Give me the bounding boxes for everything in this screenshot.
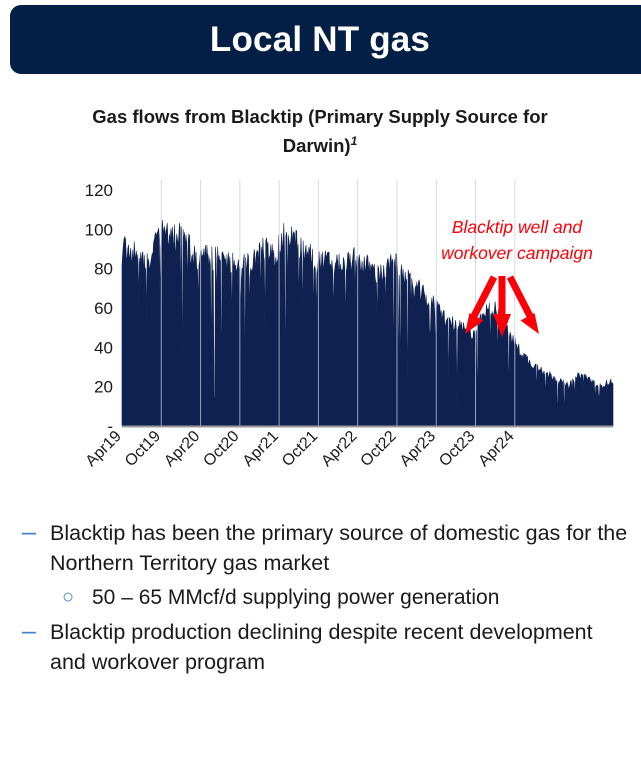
x-axis-tick-labels: Apr19Oct19Apr20Oct20Apr21Oct21Apr22Oct22… xyxy=(83,428,518,470)
annotation-line-1: Blacktip well and xyxy=(452,217,584,237)
dash-marker-icon: – xyxy=(22,518,50,547)
bullet-item-3-text: Blacktip production declining despite re… xyxy=(50,617,641,677)
y-tick-label: 80 xyxy=(94,260,113,279)
y-tick-label: 20 xyxy=(94,378,113,397)
y-tick-label: 100 xyxy=(85,220,113,239)
circle-marker-icon: ○ xyxy=(62,582,92,613)
bullet-item-1-text: Blacktip has been the primary source of … xyxy=(50,518,641,578)
x-tick-label: Apr20 xyxy=(161,428,203,470)
bullet-item-2: ○ 50 – 65 MMcf/d supplying power generat… xyxy=(0,582,641,613)
annotation-group: Blacktip well and workover campaign xyxy=(441,217,593,337)
x-tick-label: Oct20 xyxy=(200,428,242,470)
bullet-item-1: – Blacktip has been the primary source o… xyxy=(0,518,641,578)
dash-marker-icon: – xyxy=(22,617,50,646)
x-tick-label: Apr19 xyxy=(83,428,125,470)
y-tick-label: 60 xyxy=(94,299,113,318)
x-tick-label: Oct21 xyxy=(279,428,321,470)
annotation-line-2: workover campaign xyxy=(441,243,593,263)
y-tick-label: 120 xyxy=(85,181,113,200)
bullet-list: – Blacktip has been the primary source o… xyxy=(0,518,641,681)
x-tick-label: Apr23 xyxy=(397,428,439,470)
bullet-item-3: – Blacktip production declining despite … xyxy=(0,617,641,677)
x-tick-label: Oct19 xyxy=(122,428,164,470)
chart-svg: -20406080100120 Apr19Oct19Apr20Oct20Apr2… xyxy=(0,0,641,520)
x-tick-label: Apr21 xyxy=(240,428,282,470)
gas-flow-chart: -20406080100120 Apr19Oct19Apr20Oct20Apr2… xyxy=(0,0,641,520)
x-tick-label: Apr24 xyxy=(475,428,517,470)
x-tick-label: Oct23 xyxy=(436,428,478,470)
bullet-item-2-text: 50 – 65 MMcf/d supplying power generatio… xyxy=(92,582,641,613)
y-tick-label: 40 xyxy=(94,338,113,357)
y-axis-tick-labels: -20406080100120 xyxy=(85,181,113,436)
annotation-arrows xyxy=(465,276,539,337)
x-tick-label: Apr22 xyxy=(318,428,360,470)
x-tick-label: Oct22 xyxy=(358,428,400,470)
